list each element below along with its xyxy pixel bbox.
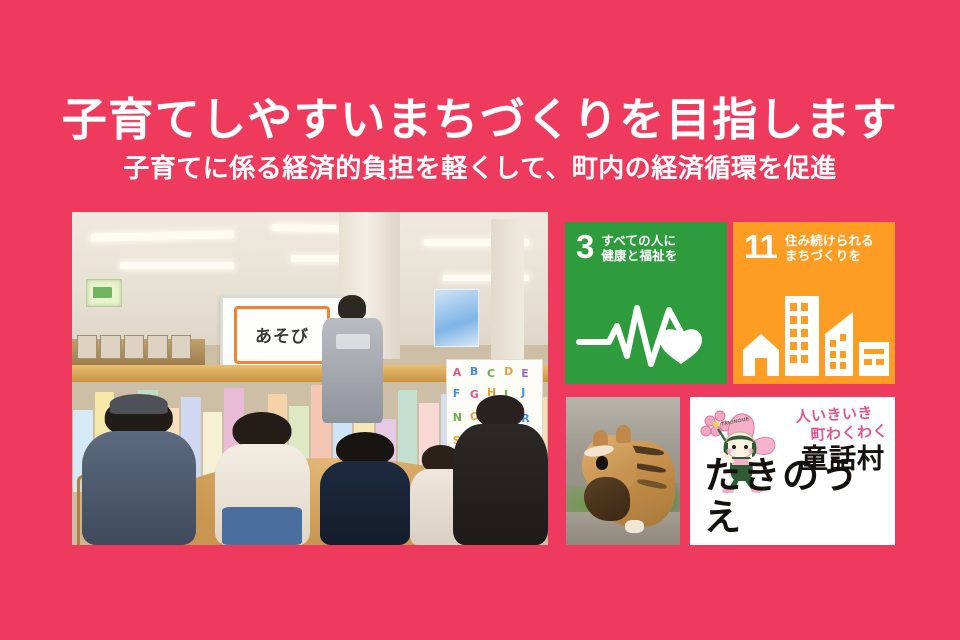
seated-child: [215, 412, 310, 545]
sdg-number: 3: [576, 232, 593, 262]
photo-pillar: [491, 219, 524, 359]
exit-sign-icon: [86, 279, 121, 308]
page-subtitle: 子育てに係る経済的負担を軽くして、町内の経済循環を促進: [0, 150, 960, 186]
wall-poster: [434, 289, 479, 348]
chipmunk-photo: [566, 397, 680, 545]
city-buildings-icon: [733, 290, 895, 376]
sdg-card-3: 3 すべての人に 健康と福祉を: [565, 222, 727, 384]
sdg-card-header: 3 すべての人に 健康と福祉を: [576, 232, 719, 263]
catchphrase-line2: 町わくわく: [797, 422, 889, 446]
person-body: [320, 461, 410, 545]
heartbeat-heart-icon: [565, 290, 727, 376]
takinoue-logo-card: TAKINOUE 人いきいき 町わくわく 童話村 たきのうえ: [690, 397, 895, 545]
chipmunk-ear: [616, 425, 631, 443]
hoodie-print: [336, 334, 371, 349]
counter-items: [77, 332, 191, 359]
sdg-card-header: 11 住み続けられる まちづくりを: [744, 232, 887, 263]
logo-catchphrase: 人いきいき 町わくわく: [796, 403, 889, 446]
page-title: 子育てしやすいまちづくりを目指します: [0, 92, 960, 148]
library-photo: あそび A B: [72, 212, 548, 545]
sdg-title-line2: まちづくりを: [785, 248, 874, 263]
person-body: [82, 431, 196, 545]
logo-town-name: たきのうえ: [704, 455, 895, 539]
sdg-title-line1: すべての人に: [601, 233, 677, 248]
chipmunk-paw: [625, 520, 643, 533]
sdg-number: 11: [744, 232, 777, 262]
ceiling-light: [120, 262, 234, 269]
headline-block: 子育てしやすいまちづくりを目指します 子育てに係る経済的負担を軽くして、町内の経…: [0, 92, 960, 186]
promo-banner: 子育てしやすいまちづくりを目指します 子育てに係る経済的負担を軽くして、町内の経…: [0, 0, 960, 640]
standing-adult: [320, 295, 387, 445]
person-head: [338, 295, 366, 320]
sdg-card-11: 11 住み続けられる まちづくりを: [733, 222, 895, 384]
sdg-title-line1: 住み続けられる: [785, 233, 874, 248]
person-body: [215, 444, 310, 545]
sdg-title-line2: 健康と福祉を: [601, 248, 677, 263]
person-body: [453, 424, 548, 545]
seated-adult: [453, 395, 548, 545]
seated-child: [320, 432, 410, 545]
seated-adult: [82, 398, 196, 545]
sdg-title: 住み続けられる まちづくりを: [785, 232, 874, 263]
sdg-title: すべての人に 健康と福祉を: [601, 232, 677, 263]
chipmunk-eye: [596, 456, 609, 469]
